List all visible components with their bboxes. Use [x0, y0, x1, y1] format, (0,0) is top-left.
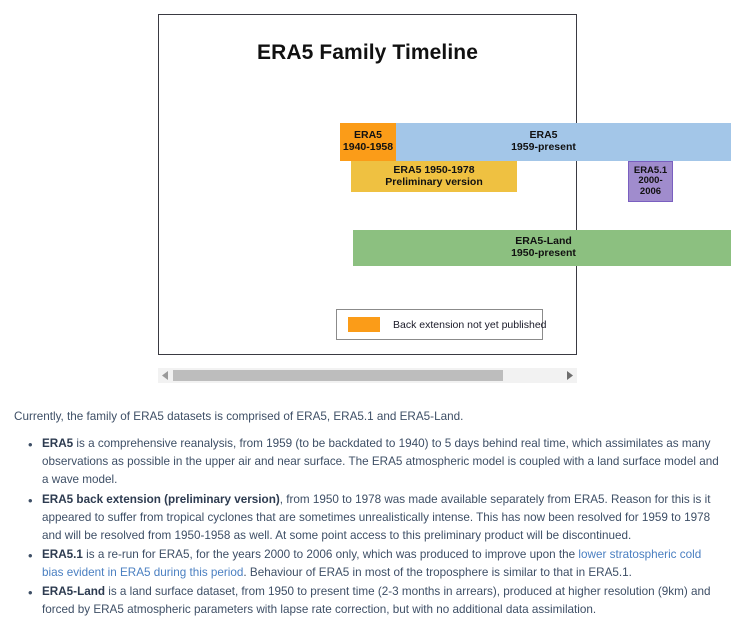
- scrollbar-thumb[interactable]: [173, 370, 503, 381]
- timeline-bar-era5-1: ERA5.1 2000- 2006: [628, 161, 673, 202]
- triangle-right-icon[interactable]: [562, 368, 577, 383]
- horizontal-scrollbar[interactable]: [158, 368, 577, 383]
- timeline-bar-era5-preliminary: ERA5 1950-1978 Preliminary version: [351, 161, 517, 192]
- figure-legend: Back extension not yet published: [336, 309, 543, 340]
- list-item-text-after: . Behaviour of ERA5 in most of the tropo…: [243, 566, 631, 579]
- figure-viewer-panel: ERA5 Family Timeline ERA5 1959-present E…: [158, 14, 577, 355]
- triangle-left-icon[interactable]: [158, 368, 173, 383]
- list-item-text: is a comprehensive reanalysis, from 1959…: [42, 437, 719, 486]
- dataset-list: ERA5 is a comprehensive reanalysis, from…: [14, 435, 720, 619]
- timeline-bar-era5-back-extension: ERA5 1940-1958: [340, 123, 396, 161]
- legend-label: Back extension not yet published: [393, 319, 547, 331]
- figure-title: ERA5 Family Timeline: [159, 41, 576, 65]
- list-item-text: is a re-run for ERA5, for the years 2000…: [83, 548, 578, 561]
- scrollbar-track-area[interactable]: [173, 368, 562, 383]
- article-body: Currently, the family of ERA5 datasets i…: [14, 408, 720, 620]
- list-item: ERA5 back extension (preliminary version…: [42, 491, 720, 545]
- list-item-text: is a land surface dataset, from 1950 to …: [42, 585, 710, 616]
- legend-swatch-orange: [348, 317, 380, 332]
- list-item-term: ERA5: [42, 437, 73, 450]
- list-item: ERA5.1 is a re-run for ERA5, for the yea…: [42, 546, 720, 582]
- list-item: ERA5 is a comprehensive reanalysis, from…: [42, 435, 720, 489]
- list-item-term: ERA5 back extension (preliminary version…: [42, 493, 280, 506]
- list-item-term: ERA5-Land: [42, 585, 105, 598]
- list-item-term: ERA5.1: [42, 548, 83, 561]
- timeline-bar-era5-land: ERA5-Land 1950-present: [353, 230, 731, 266]
- list-item: ERA5-Land is a land surface dataset, fro…: [42, 583, 720, 619]
- intro-paragraph: Currently, the family of ERA5 datasets i…: [14, 408, 720, 426]
- timeline-bar-era5-main: ERA5 1959-present: [353, 123, 731, 161]
